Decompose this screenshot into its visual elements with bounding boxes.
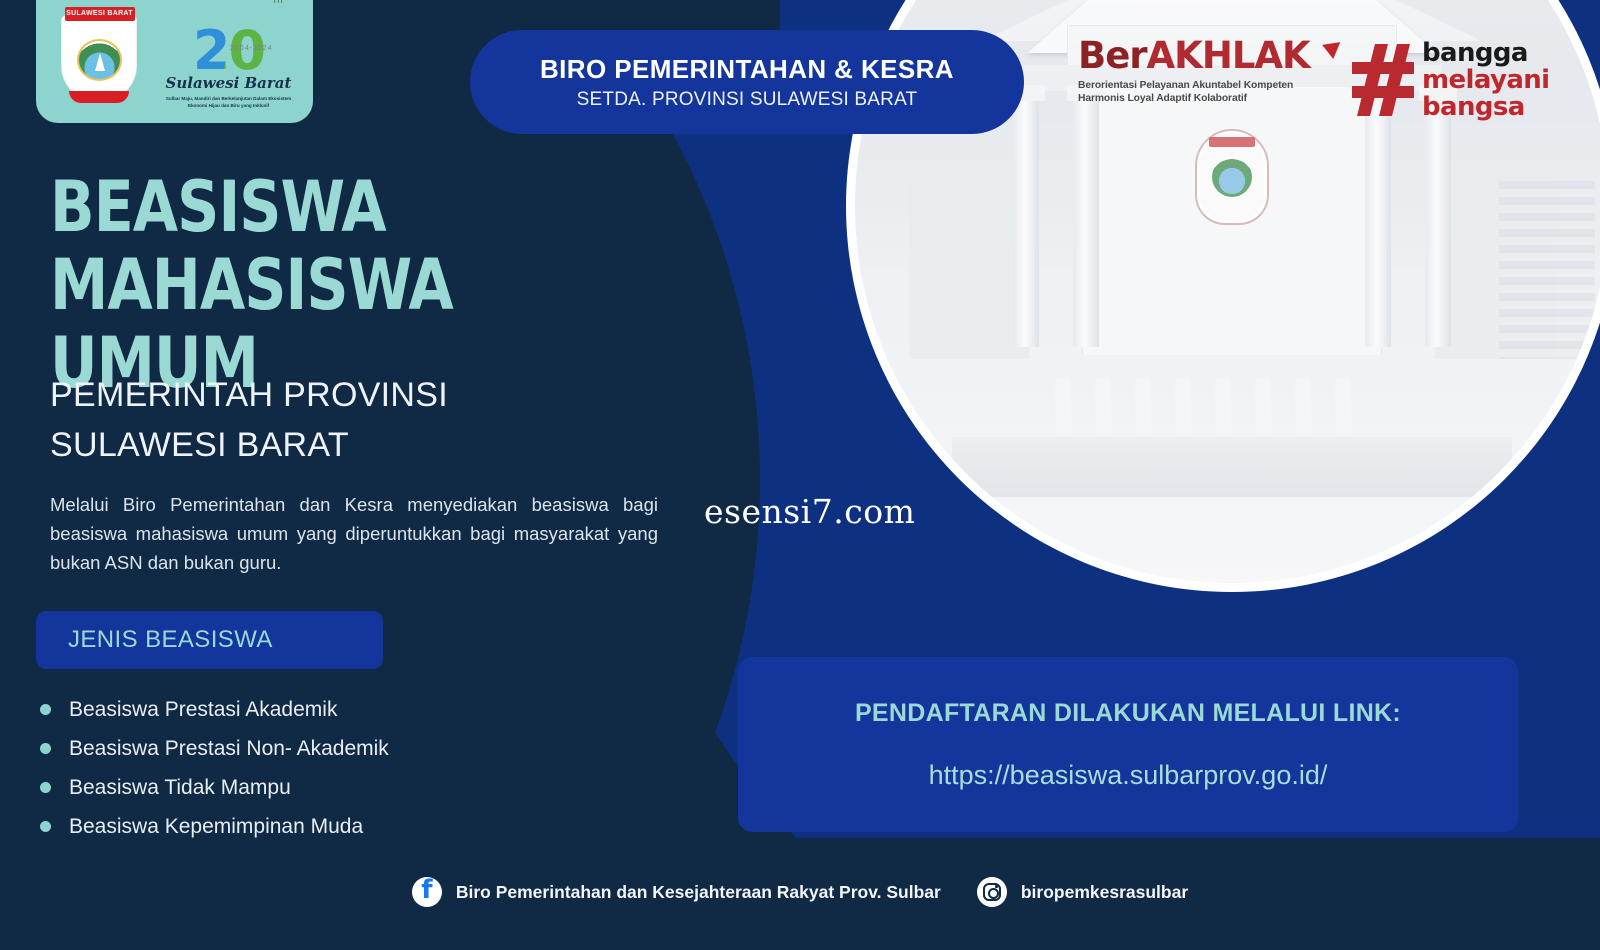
list-item-label: Beasiswa Prestasi Akademik (69, 690, 337, 729)
sulawesi-barat-emblem-icon: SULAWESI BARAT (53, 5, 145, 109)
berakhlak-akhlak: AKHLAK (1147, 34, 1310, 77)
bullet-icon (40, 704, 51, 715)
berakhlak-tagline-line1: Berorientasi Pelayanan Akuntabel Kompete… (1078, 79, 1328, 92)
scholarship-types-header: JENIS BEASISWA (36, 611, 383, 669)
header-subtitle: SETDA. PROVINSI SULAWESI BARAT (577, 89, 918, 111)
hashtag-icon (1352, 44, 1414, 116)
berakhlak-ber: Ber (1078, 34, 1147, 77)
header-title: BIRO PEMERINTAHAN & KESRA (540, 54, 954, 85)
bangga-melayani-bangsa-logo-icon: bangga melayani bangsa (1352, 28, 1582, 132)
berakhlak-wordmark: BerAKHLAK (1078, 36, 1328, 76)
bullet-icon (40, 743, 51, 754)
list-item: Beasiswa Prestasi Akademik (40, 690, 600, 729)
scholarship-types-list: Beasiswa Prestasi Akademik Beasiswa Pres… (40, 690, 600, 846)
scholarship-types-label: JENIS BEASISWA (68, 626, 273, 654)
poster-canvas: SULAWESI BARAT Th 20 2004-2024 Sulawesi … (0, 0, 1600, 950)
list-item: Beasiswa Prestasi Non- Akademik (40, 729, 600, 768)
emblem-ribbon-label: SULAWESI BARAT (65, 7, 135, 21)
page-title: BEASISWA MAHASISWA UMUM (50, 168, 645, 402)
bangga-line2: melayani (1422, 67, 1550, 94)
list-item-label: Beasiswa Tidak Mampu (69, 768, 291, 807)
list-item-label: Beasiswa Prestasi Non- Akademik (69, 729, 389, 768)
watermark: esensi7.com (704, 492, 915, 531)
registration-link-box: PENDAFTARAN DILAKUKAN MELALUI LINK: http… (738, 657, 1518, 832)
page-subtitle: PEMERINTAH PROVINSI SULAWESI BARAT (50, 370, 610, 470)
anniversary-tagline: Sulbar Maju, Mandiri dan Berkelanjutan D… (165, 95, 293, 109)
list-item-label: Beasiswa Kepemimpinan Muda (69, 807, 363, 846)
registration-link-title: PENDAFTARAN DILAKUKAN MELALUI LINK: (855, 699, 1401, 728)
anniversary-years: 2004-2024 (230, 45, 272, 52)
bullet-icon (40, 782, 51, 793)
bangga-line3: bangsa (1422, 94, 1550, 121)
page-subtitle-line2: SULAWESI BARAT (50, 420, 610, 470)
instagram-icon[interactable] (977, 877, 1007, 907)
page-title-line1: BEASISWA (50, 168, 645, 246)
facebook-icon[interactable] (412, 877, 442, 907)
page-subtitle-line1: PEMERINTAH PROVINSI (50, 370, 610, 420)
header-badge: BIRO PEMERINTAHAN & KESRA SETDA. PROVINS… (470, 30, 1024, 134)
berakhlak-tagline: Berorientasi Pelayanan Akuntabel Kompete… (1078, 79, 1328, 105)
social-footer: Biro Pemerintahan dan Kesejahteraan Raky… (0, 866, 1600, 918)
provincial-logo-badge: SULAWESI BARAT Th 20 2004-2024 Sulawesi … (36, 0, 313, 123)
bangga-wordmark: bangga melayani bangsa (1422, 40, 1550, 121)
description-text: Melalui Biro Pemerintahan dan Kesra meny… (50, 490, 658, 577)
list-item: Beasiswa Tidak Mampu (40, 768, 600, 807)
facebook-handle: Biro Pemerintahan dan Kesejahteraan Raky… (456, 882, 941, 903)
berakhlak-logo-icon: BerAKHLAK Berorientasi Pelayanan Akuntab… (1078, 36, 1328, 128)
anniversary-ordinal: Th (272, 0, 283, 5)
bullet-icon (40, 821, 51, 832)
anniversary-20th-logo-icon: Th 20 2004-2024 Sulawesi Barat Sulbar Ma… (161, 0, 297, 109)
list-item: Beasiswa Kepemimpinan Muda (40, 807, 600, 846)
instagram-handle: biropemkesrasulbar (1021, 882, 1188, 903)
bangga-line1: bangga (1422, 40, 1550, 67)
berakhlak-tagline-line2: Harmonis Loyal Adaptif Kolaboratif (1078, 92, 1328, 105)
anniversary-name: Sulawesi Barat (166, 74, 292, 92)
registration-url[interactable]: https://beasiswa.sulbarprov.go.id/ (929, 760, 1328, 791)
